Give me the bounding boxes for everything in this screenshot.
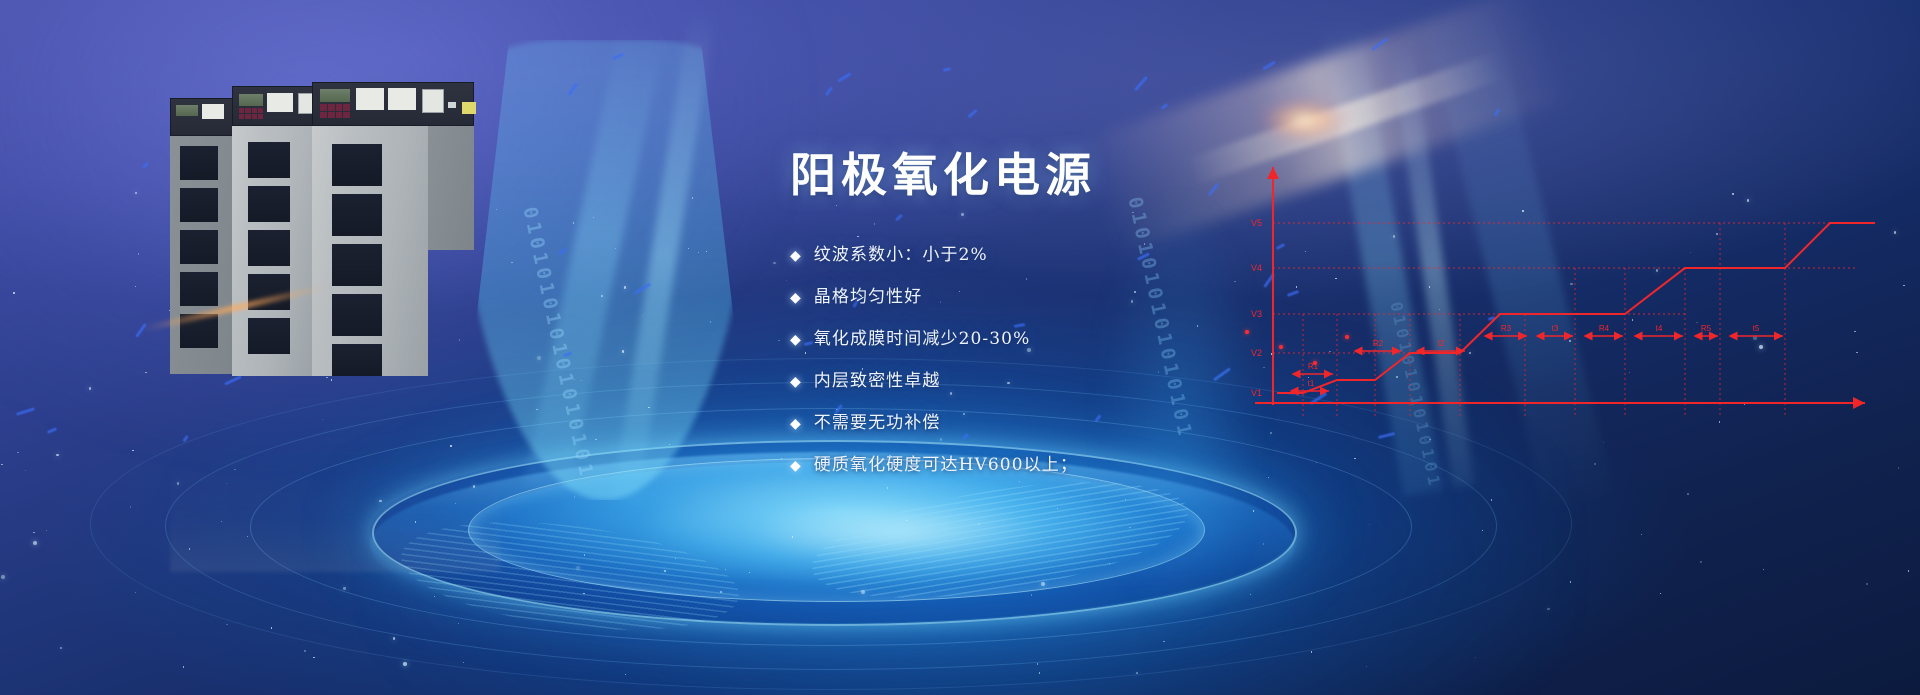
- keypad-key[interactable]: [239, 108, 244, 113]
- keypad-key[interactable]: [252, 108, 257, 113]
- chart-x-label-t5: t5: [1753, 324, 1760, 333]
- star-particle: [511, 262, 512, 263]
- star-particle: [861, 590, 865, 594]
- cabinet-back-vent-2: [180, 188, 218, 222]
- keypad-key[interactable]: [336, 112, 343, 119]
- keypad-key[interactable]: [258, 108, 263, 113]
- star-particle: [343, 587, 345, 589]
- chart-backlight: [1100, 190, 1260, 630]
- cabinet-front-vent-5: [332, 344, 382, 376]
- star-particle: [1311, 651, 1312, 652]
- dash-particle: [16, 407, 35, 416]
- cabinet-middle-vent-5: [248, 318, 290, 354]
- star-particle: [1594, 463, 1595, 464]
- star-particle: [226, 624, 227, 625]
- star-particle: [1570, 581, 1571, 582]
- keypad-key[interactable]: [343, 104, 350, 111]
- star-particle: [1491, 499, 1492, 500]
- chart-x-label-t4: t4: [1656, 324, 1663, 333]
- dash-particle: [142, 162, 149, 169]
- star-particle: [749, 572, 750, 573]
- star-particle: [313, 657, 314, 658]
- star-particle: [593, 217, 594, 218]
- feature-item-label: 硬质氧化硬度可达HV600以上；: [814, 457, 1078, 474]
- star-particle: [786, 280, 787, 281]
- chart-dimension-rail: [1291, 336, 1783, 391]
- star-particle: [583, 593, 584, 594]
- star-particle: [304, 650, 305, 651]
- cabinet-back-vent-1: [180, 146, 218, 180]
- chart-marker-dot-2: [1279, 345, 1283, 349]
- star-particle: [17, 452, 18, 453]
- dash-particle: [634, 283, 652, 295]
- star-particle: [584, 554, 585, 555]
- dash-particle: [1134, 76, 1148, 92]
- keypad-key[interactable]: [320, 112, 327, 119]
- star-particle: [688, 248, 689, 249]
- dash-particle: [1370, 37, 1387, 50]
- chart-marker-dot-3: [1313, 361, 1317, 365]
- star-particle: [642, 315, 643, 316]
- star-particle: [692, 197, 693, 198]
- star-particle: [135, 286, 136, 287]
- star-particle: [595, 439, 596, 440]
- star-particle: [1903, 285, 1904, 286]
- chart-x-label-t1: t1: [1308, 379, 1315, 388]
- feature-item-label: 纹波系数小：小于2%: [814, 247, 988, 264]
- cabinet-front-meter: [422, 89, 444, 113]
- dash-particle: [47, 427, 57, 434]
- star-particle: [1603, 442, 1604, 443]
- keypad-key[interactable]: [258, 114, 263, 119]
- star-particle: [145, 372, 146, 373]
- chart-y-tick-V2: V2: [1251, 348, 1262, 358]
- feature-item-label: 内层致密性卓越: [814, 373, 941, 390]
- star-particle: [1057, 508, 1058, 509]
- star-particle: [906, 520, 907, 521]
- cabinet-middle-vent-2: [248, 186, 290, 222]
- dash-particle: [1262, 61, 1276, 71]
- cabinet-nameplate-icon: [448, 102, 456, 108]
- star-particle: [60, 647, 62, 649]
- star-particle: [56, 454, 58, 456]
- feature-item-label: 晶格均匀性好: [814, 289, 923, 306]
- star-particle: [622, 350, 624, 352]
- diamond-bullet-icon: ◆: [790, 374, 801, 388]
- star-particle: [46, 530, 47, 531]
- chart-marker-dot-1: [1245, 330, 1249, 334]
- cabinet-middle-label: [267, 93, 293, 112]
- star-particle: [33, 532, 34, 533]
- star-particle: [13, 292, 14, 293]
- star-particle: [706, 251, 707, 252]
- dash-particle: [1161, 103, 1168, 109]
- star-particle: [1039, 672, 1040, 673]
- star-particle: [403, 662, 407, 666]
- star-particle: [725, 569, 726, 570]
- voltage-profile-chart: V1V2V3V4V5 R1t1R2t2R3t3R4t4R5t5: [1255, 155, 1875, 425]
- keypad-key[interactable]: [245, 108, 250, 113]
- star-particle: [1660, 593, 1661, 594]
- chart-y-tick-V5: V5: [1251, 218, 1262, 228]
- star-particle: [574, 496, 575, 497]
- dash-particle: [968, 109, 979, 118]
- star-particle: [720, 591, 721, 592]
- star-particle: [130, 506, 131, 507]
- chart-y-tick-V3: V3: [1251, 309, 1262, 319]
- star-particle: [648, 407, 649, 408]
- star-particle: [1263, 543, 1264, 544]
- star-particle: [781, 458, 782, 459]
- star-particle: [1908, 570, 1909, 571]
- cabinet-back-vent-4: [180, 272, 218, 306]
- star-particle: [1700, 561, 1701, 562]
- cabinet-front-vent-4: [332, 294, 382, 336]
- star-particle: [1, 575, 5, 579]
- star-particle: [135, 192, 137, 194]
- star-particle: [1475, 657, 1476, 658]
- star-particle: [1354, 458, 1355, 459]
- star-particle: [458, 623, 459, 624]
- star-particle: [1136, 672, 1138, 674]
- star-particle: [792, 536, 793, 537]
- keypad-key[interactable]: [239, 114, 244, 119]
- dash-particle: [1493, 108, 1500, 116]
- star-particle: [1, 464, 2, 465]
- cabinet-middle-vent-3: [248, 230, 290, 266]
- dash-particle: [568, 83, 578, 96]
- star-particle: [463, 662, 464, 663]
- cabinet-front-lcd: [320, 89, 350, 102]
- star-particle: [615, 248, 616, 249]
- star-particle: [1316, 462, 1317, 463]
- star-particle: [576, 566, 580, 570]
- dash-particle: [612, 52, 624, 60]
- star-particle: [601, 295, 603, 297]
- cabinet-reflection: [170, 452, 500, 572]
- star-particle: [625, 674, 626, 675]
- power-supply-cabinets: [170, 84, 500, 484]
- cabinet-middle-lcd: [239, 94, 263, 106]
- warning-triangle-icon: [462, 102, 476, 114]
- star-particle: [581, 380, 582, 381]
- diamond-bullet-icon: ◆: [790, 248, 801, 262]
- star-particle: [1369, 524, 1370, 525]
- diamond-bullet-icon: ◆: [790, 332, 801, 346]
- star-particle: [537, 356, 541, 360]
- chart-y-tick-V4: V4: [1251, 263, 1262, 273]
- cabinet-front-vent-1: [332, 144, 382, 186]
- chart-y-tick-V1: V1: [1251, 388, 1262, 398]
- keypad-key[interactable]: [328, 112, 335, 119]
- cabinet-front-label-2: [388, 88, 416, 110]
- keypad-key[interactable]: [336, 104, 343, 111]
- dash-particle: [943, 67, 952, 72]
- dash-particle: [837, 72, 851, 82]
- star-particle: [1547, 608, 1549, 610]
- star-particle: [1898, 467, 1899, 468]
- star-particle: [1641, 534, 1642, 535]
- star-particle: [536, 409, 537, 410]
- cabinet-front-keypad[interactable]: [320, 104, 350, 118]
- cabinet-front-vent-3: [332, 244, 382, 286]
- chart-x-label-R3: R3: [1501, 324, 1512, 333]
- star-particle: [1366, 666, 1367, 667]
- cabinet-front-label-1: [356, 88, 384, 110]
- star-particle: [1031, 594, 1032, 595]
- chart-segment-dividers: [1303, 223, 1785, 417]
- chart-x-label-R4: R4: [1599, 324, 1610, 333]
- star-particle: [675, 558, 676, 559]
- cabinet-back-label: [202, 104, 224, 119]
- star-particle: [434, 596, 435, 597]
- star-particle: [773, 262, 775, 264]
- feature-item-label: 氧化成膜时间减少20-30%: [814, 331, 1031, 348]
- cabinet-front-vent-2: [332, 194, 382, 236]
- chart-x-label-R2: R2: [1373, 339, 1384, 348]
- star-particle: [698, 252, 699, 253]
- chart-marker-dot-4: [1345, 335, 1349, 339]
- chart-x-label-t3: t3: [1552, 324, 1559, 333]
- star-particle: [1894, 231, 1896, 233]
- diamond-bullet-icon: ◆: [790, 458, 801, 472]
- feature-item-label: 不需要无功补偿: [814, 415, 941, 432]
- star-particle: [624, 286, 626, 288]
- keypad-key[interactable]: [343, 112, 350, 119]
- star-particle: [1037, 663, 1038, 664]
- hero-banner: 010101010101010101 0101010101010101 0101…: [0, 0, 1920, 695]
- star-particle: [25, 470, 26, 471]
- cabinet-middle-vent-1: [248, 142, 290, 178]
- star-particle: [778, 340, 779, 341]
- star-particle: [1041, 582, 1045, 586]
- star-particle: [978, 523, 979, 524]
- dash-particle: [1377, 432, 1394, 439]
- star-particle: [669, 444, 670, 445]
- chart-x-label-R5: R5: [1701, 324, 1712, 333]
- star-particle: [710, 321, 711, 322]
- chart-x-label-t2: t2: [1438, 339, 1445, 348]
- star-particle: [135, 592, 136, 593]
- star-particle: [664, 570, 666, 572]
- star-particle: [573, 222, 574, 223]
- keypad-key[interactable]: [320, 104, 327, 111]
- diamond-bullet-icon: ◆: [790, 416, 801, 430]
- cabinet-middle-keypad[interactable]: [239, 108, 263, 119]
- star-particle: [271, 627, 272, 628]
- star-particle: [1687, 493, 1689, 495]
- star-particle: [1163, 641, 1164, 642]
- dash-particle: [558, 247, 566, 255]
- dash-particle: [825, 86, 833, 95]
- star-particle: [183, 666, 184, 667]
- star-particle: [89, 387, 91, 389]
- star-particle: [393, 637, 395, 639]
- star-particle: [1763, 569, 1764, 570]
- keypad-key[interactable]: [245, 114, 250, 119]
- keypad-key[interactable]: [328, 104, 335, 111]
- star-particle: [1482, 530, 1483, 531]
- star-particle: [132, 450, 133, 451]
- star-particle: [138, 253, 139, 254]
- star-particle: [1866, 583, 1867, 584]
- star-particle: [33, 541, 37, 545]
- keypad-key[interactable]: [252, 114, 257, 119]
- cabinet-back-lcd: [176, 105, 198, 116]
- chart-svg: V1V2V3V4V5 R1t1R2t2R3t3R4t4R5t5: [1255, 155, 1875, 425]
- diamond-bullet-icon: ◆: [790, 290, 801, 304]
- star-particle: [1010, 513, 1011, 514]
- chart-level-gridlines: [1273, 223, 1855, 353]
- cabinet-back-vent-3: [180, 230, 218, 264]
